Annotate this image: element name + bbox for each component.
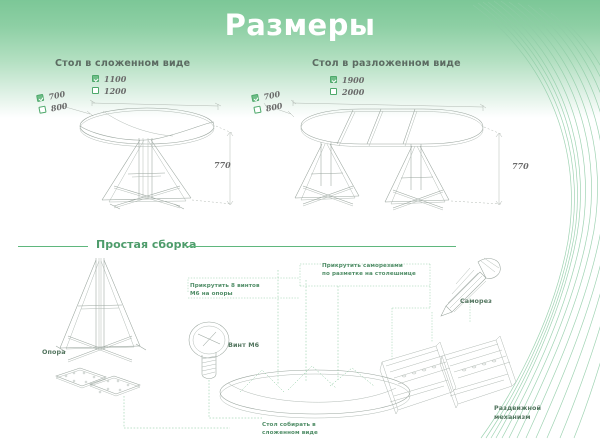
note-fold: Стол собирать в сложенном виде — [262, 421, 318, 437]
dimension-value: 800 — [265, 100, 283, 113]
folded-width-options: 1100 1200 — [92, 73, 126, 97]
callout-slide-mechanism: Раздвижной механизм — [494, 404, 541, 423]
checkbox-checked[interactable] — [251, 94, 259, 102]
foot-plates — [56, 368, 140, 396]
dimension-option: 1200 — [92, 85, 126, 96]
checkbox-checked[interactable] — [92, 75, 99, 82]
dimension-value: 800 — [50, 100, 68, 113]
dimension-option: 1900 — [330, 74, 364, 85]
checkbox-checked[interactable] — [36, 94, 44, 102]
section-title-folded: Стол в сложенном виде — [55, 58, 190, 69]
checkbox-unchecked[interactable] — [38, 106, 46, 114]
callout-bolt: Винт М6 — [228, 341, 259, 350]
folded-height-label: 770 — [214, 160, 231, 170]
base-frame-exploded — [56, 258, 146, 362]
callout-screw: Саморез — [460, 297, 492, 306]
checkbox-unchecked[interactable] — [253, 106, 261, 114]
unfolded-table-drawing — [255, 78, 523, 218]
poster-root: Размеры Стол в сложенном виде Стол в раз… — [0, 0, 600, 440]
screw-illustration — [441, 258, 500, 316]
bolt-m6-illustration — [189, 322, 229, 379]
tabletop-underside — [220, 370, 410, 418]
unfolded-width-options: 1900 2000 — [330, 74, 364, 98]
note-bolts: Прикрутить 8 винтов М6 на опоры — [190, 282, 260, 298]
section-title-unfolded: Стол в разложенном виде — [312, 58, 461, 69]
dimension-value: 2000 — [342, 87, 364, 97]
checkbox-checked[interactable] — [330, 76, 337, 83]
divider-right — [186, 246, 456, 247]
page-title: Размеры — [0, 8, 600, 42]
note-screws: Прикрутить саморезами по разметке на сто… — [322, 262, 416, 278]
checkbox-unchecked[interactable] — [330, 88, 337, 95]
divider-left — [18, 246, 88, 247]
dimension-value: 1100 — [104, 74, 126, 84]
folded-table-drawing — [40, 78, 255, 218]
callout-support: Опора — [42, 348, 66, 357]
dimension-option: 2000 — [330, 86, 364, 97]
unfolded-height-label: 770 — [512, 161, 529, 171]
checkbox-unchecked[interactable] — [92, 87, 99, 94]
slide-rails-illustration — [380, 336, 516, 414]
dimension-value: 1200 — [104, 86, 126, 96]
dimension-option: 1100 — [92, 73, 126, 84]
dimension-value: 1900 — [342, 75, 364, 85]
